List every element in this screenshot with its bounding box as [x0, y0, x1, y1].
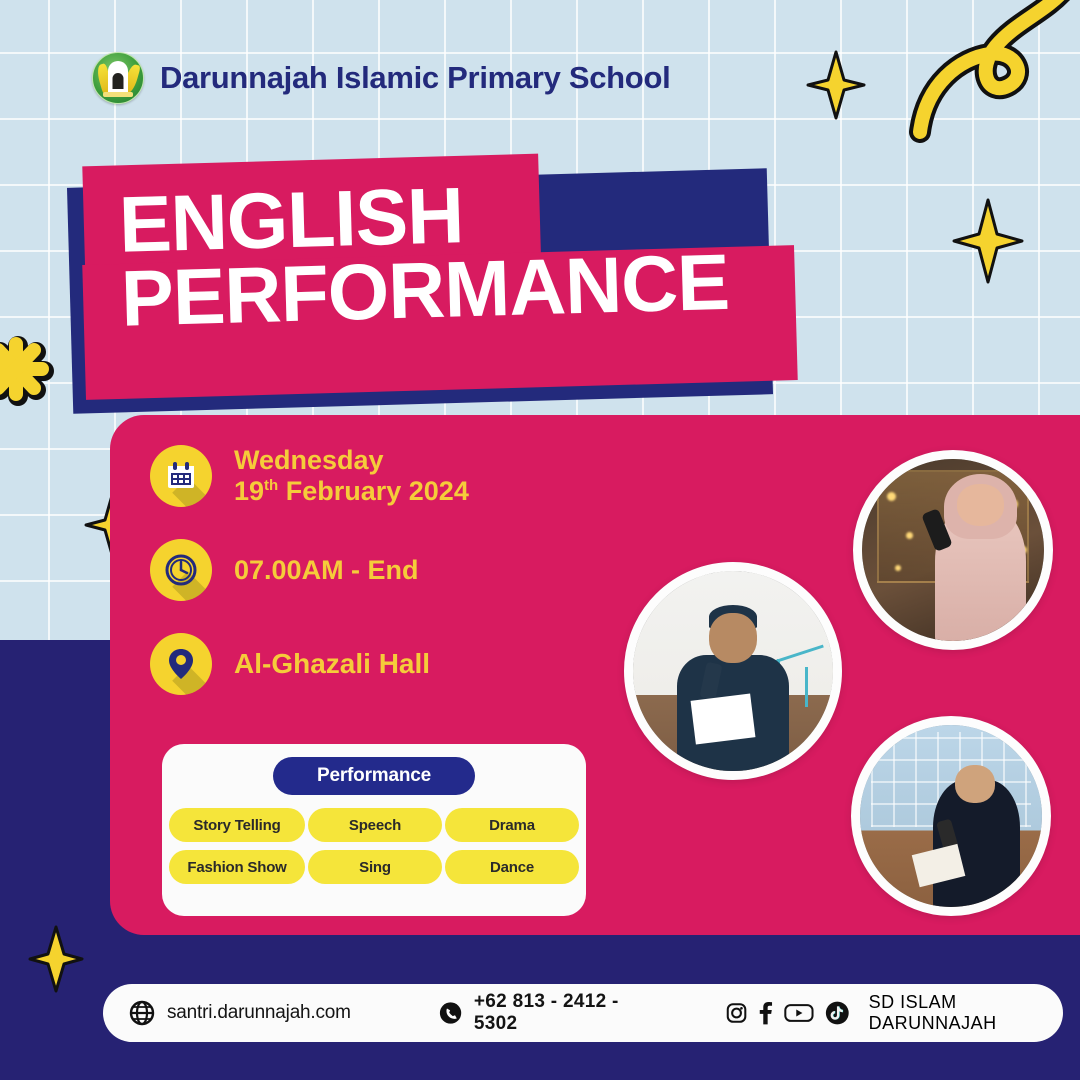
phone-icon: [439, 1000, 462, 1026]
info-place-text: Al-Ghazali Hall: [234, 648, 430, 680]
performance-tag[interactable]: Drama: [445, 808, 579, 842]
event-date-rest: February 2024: [286, 476, 469, 506]
title-text: ENGLISH PERFORMANCE: [118, 168, 822, 336]
poster-canvas: Darunnajah Islamic Primary School ENGLIS…: [0, 0, 1080, 1080]
decor-asterisk: [0, 330, 66, 410]
performance-tag[interactable]: Sing: [308, 850, 442, 884]
calendar-icon: [150, 445, 212, 507]
performance-tag[interactable]: Speech: [308, 808, 442, 842]
event-date: 19th February 2024: [234, 476, 469, 507]
footer-social: SD ISLAM DARUNNAJAH: [726, 992, 1063, 1034]
school-name: Darunnajah Islamic Primary School: [160, 60, 670, 96]
globe-icon: [129, 1000, 155, 1026]
youtube-icon[interactable]: [784, 1001, 814, 1025]
performance-card: Performance Story Telling Speech Drama F…: [162, 744, 586, 916]
footer-contact-bar: santri.darunnajah.com +62 813 - 2412 - 5…: [103, 984, 1063, 1042]
footer-social-handle: SD ISLAM DARUNNAJAH: [869, 992, 1063, 1034]
info-date-text: Wednesday 19th February 2024: [234, 445, 469, 507]
performance-tag[interactable]: Fashion Show: [169, 850, 305, 884]
performance-heading: Performance: [273, 757, 475, 795]
info-row-date: Wednesday 19th February 2024: [150, 445, 590, 507]
title-block: ENGLISH PERFORMANCE: [62, 150, 802, 410]
title-line-2: PERFORMANCE: [120, 242, 822, 336]
event-day: Wednesday: [234, 445, 469, 476]
photo-boy-speaking: [624, 562, 842, 780]
footer-website[interactable]: santri.darunnajah.com: [129, 1000, 351, 1026]
performance-tag-grid: Story Telling Speech Drama Fashion Show …: [169, 808, 579, 884]
footer-phone-label: +62 813 - 2412 - 5302: [474, 991, 646, 1035]
event-place: Al-Ghazali Hall: [234, 648, 430, 679]
photo-girl-singing: [853, 450, 1053, 650]
instagram-icon[interactable]: [726, 1001, 747, 1025]
event-date-number: 19: [234, 476, 264, 506]
tiktok-icon[interactable]: [825, 999, 850, 1027]
info-row-time: 07.00AM - End: [150, 539, 590, 601]
event-time: 07.00AM - End: [234, 555, 419, 585]
event-date-suffix: th: [264, 477, 278, 494]
performance-tag[interactable]: Dance: [445, 850, 579, 884]
header: Darunnajah Islamic Primary School: [92, 52, 670, 104]
info-time-text: 07.00AM - End: [234, 555, 419, 586]
event-info-list: Wednesday 19th February 2024 07.00AM - E…: [150, 445, 590, 727]
facebook-icon[interactable]: [758, 1000, 773, 1026]
location-pin-icon: [150, 633, 212, 695]
clock-icon: [150, 539, 212, 601]
darunnajah-school-logo-icon: [92, 52, 144, 104]
info-row-place: Al-Ghazali Hall: [150, 633, 590, 695]
performance-tag[interactable]: Story Telling: [169, 808, 305, 842]
footer-website-label: santri.darunnajah.com: [167, 1002, 351, 1024]
photo-girl-reading: [851, 716, 1051, 916]
footer-phone[interactable]: +62 813 - 2412 - 5302: [439, 991, 646, 1035]
